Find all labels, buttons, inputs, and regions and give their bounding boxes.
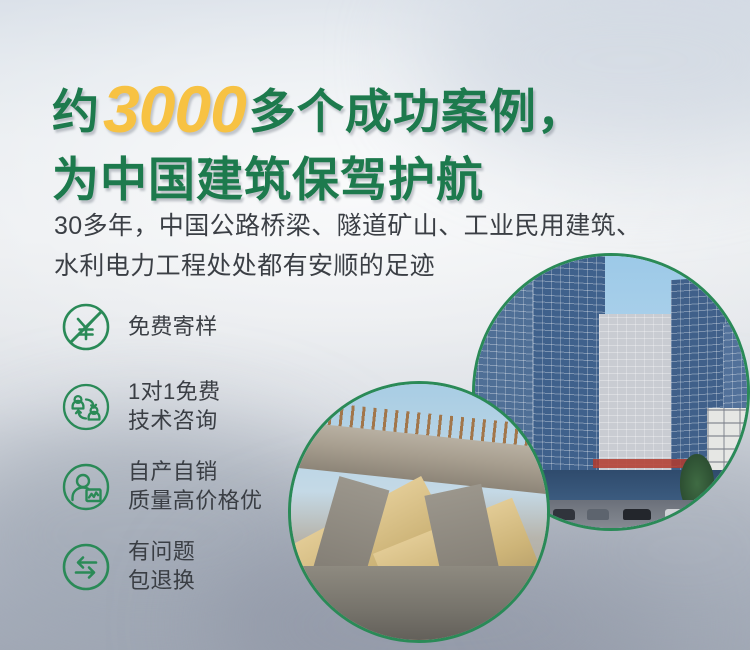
one-on-one-consult-icon (58, 379, 114, 435)
parked-car (587, 509, 609, 520)
feature-label-line-2: 质量高价格优 (128, 487, 262, 516)
headline-number: 3000 (100, 72, 249, 146)
feature-item-free-sample[interactable]: 免费寄样 (58, 296, 262, 358)
parked-car (623, 509, 651, 520)
feature-label-line-1: 自产自销 (128, 458, 262, 487)
feature-label-line-1: 有问题 (128, 538, 195, 567)
headline-line-1: 约3000多个成功案例， (52, 76, 585, 142)
feature-item-consultation[interactable]: 1对1免费 技术咨询 (58, 376, 262, 438)
feature-label-line-1: 1对1免费 (128, 378, 220, 407)
feature-label: 1对1免费 技术咨询 (128, 378, 220, 435)
feature-item-return-exchange[interactable]: 有问题 包退换 (58, 536, 262, 598)
feature-label: 自产自销 质量高价格优 (128, 458, 262, 515)
headline: 约3000多个成功案例， 为中国建筑保驾护航 (52, 76, 585, 203)
headline-line-2-text: 为中国建筑保驾护航 (52, 153, 484, 206)
promo-banner: 约3000多个成功案例， 为中国建筑保驾护航 30多年，中国公路桥梁、隧道矿山、… (0, 0, 750, 650)
feature-label: 免费寄样 (128, 313, 218, 342)
bridge-photo (288, 381, 550, 643)
return-exchange-icon (58, 539, 114, 595)
bridge-scene (291, 384, 547, 640)
headline-line-2: 为中国建筑保驾护航 (52, 156, 585, 203)
parked-car (665, 509, 687, 520)
feature-item-self-produced[interactable]: 自产自销 质量高价格优 (58, 456, 262, 518)
subcopy: 30多年，中国公路桥梁、隧道矿山、工业民用建筑、 水利电力工程处处都有安顺的足迹 (54, 207, 641, 286)
feature-label-line-1: 免费寄样 (128, 313, 218, 342)
subcopy-line-1: 30多年，中国公路桥梁、隧道矿山、工业民用建筑、 (54, 207, 641, 247)
feature-label-line-2: 包退换 (128, 567, 195, 596)
headline-suffix: 多个成功案例， (249, 85, 585, 138)
feature-label: 有问题 包退换 (128, 538, 195, 595)
feature-label-line-2: 技术咨询 (128, 407, 220, 436)
parked-car (553, 509, 575, 520)
self-produced-quality-icon (58, 459, 114, 515)
feature-list: 免费寄样 1对1免费 技术咨询 (58, 296, 262, 616)
subcopy-line-2: 水利电力工程处处都有安顺的足迹 (54, 247, 641, 287)
headline-prefix: 约 (52, 85, 100, 138)
construction-ground (291, 566, 547, 640)
no-fee-yuan-icon (58, 299, 114, 355)
